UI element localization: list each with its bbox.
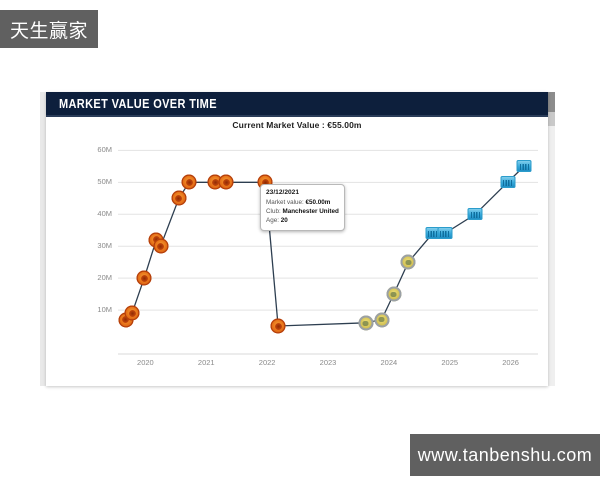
x-tick-label: 2026 — [488, 358, 534, 367]
club-badge-icon — [153, 239, 168, 254]
data-point[interactable] — [137, 271, 152, 286]
card-header-title: MARKET VALUE OVER TIME — [59, 97, 217, 111]
chart-svg — [46, 136, 548, 386]
club-badge-icon — [401, 255, 416, 270]
x-tick-label: 2022 — [244, 358, 290, 367]
card-scrollbar[interactable] — [548, 92, 555, 386]
y-tick-label: 30M — [78, 241, 112, 250]
watermark-bottom-right: www.tanbenshu.com — [410, 434, 600, 476]
data-point[interactable] — [517, 160, 532, 172]
x-tick-label: 2024 — [366, 358, 412, 367]
club-badge-icon — [182, 175, 197, 190]
data-point[interactable] — [182, 175, 197, 190]
x-tick-label: 2025 — [427, 358, 473, 367]
y-tick-label: 40M — [78, 209, 112, 218]
club-badge-icon — [500, 176, 515, 188]
data-point[interactable] — [468, 208, 483, 220]
screenshot-root: 天生赢家 MARKET VALUE OVER TIME Current Mark… — [0, 0, 600, 480]
club-badge-icon — [358, 315, 373, 330]
market-value-card: MARKET VALUE OVER TIME Current Market Va… — [46, 92, 548, 386]
y-tick-label: 50M — [78, 177, 112, 186]
data-point[interactable] — [401, 255, 416, 270]
club-badge-icon — [468, 208, 483, 220]
tooltip-market-value-label: Market value: — [266, 199, 304, 206]
tooltip-date: 23/12/2021 — [266, 189, 339, 196]
x-tick-label: 2020 — [122, 358, 168, 367]
data-point[interactable] — [153, 239, 168, 254]
club-badge-icon — [374, 312, 389, 327]
club-badge-icon — [219, 175, 234, 190]
club-badge-icon — [125, 306, 140, 321]
tooltip-age-label: Age: — [266, 217, 279, 224]
data-point[interactable] — [386, 287, 401, 302]
club-badge-icon — [171, 191, 186, 206]
tooltip-club: Club: Manchester United — [266, 207, 339, 216]
data-point[interactable] — [125, 306, 140, 321]
tooltip-age: Age: 20 — [266, 216, 339, 225]
tooltip-club-value: Manchester United — [282, 208, 338, 215]
chart-plot-area: 60M50M40M30M20M10M 202020212022202320242… — [46, 136, 548, 386]
chart-title: Current Market Value : €55.00m — [46, 120, 548, 130]
tooltip-market-value: Market value: €50.00m — [266, 198, 339, 207]
y-tick-label: 20M — [78, 273, 112, 282]
club-badge-icon — [271, 319, 286, 334]
data-point[interactable] — [171, 191, 186, 206]
data-point[interactable] — [271, 319, 286, 334]
watermark-top-left: 天生赢家 — [0, 10, 98, 48]
data-point[interactable] — [358, 315, 373, 330]
club-badge-icon — [437, 227, 452, 239]
chart-tooltip: 23/12/2021 Market value: €50.00m Club: M… — [260, 184, 345, 231]
club-badge-icon — [137, 271, 152, 286]
card-header: MARKET VALUE OVER TIME — [46, 92, 548, 117]
y-tick-label: 60M — [78, 145, 112, 154]
tooltip-market-value-value: €50.00m — [306, 199, 331, 206]
y-tick-label: 10M — [78, 305, 112, 314]
data-point[interactable] — [500, 176, 515, 188]
tooltip-age-value: 20 — [281, 217, 288, 224]
club-badge-icon — [386, 287, 401, 302]
data-point[interactable] — [374, 312, 389, 327]
tooltip-club-label: Club: — [266, 208, 281, 215]
data-point[interactable] — [437, 227, 452, 239]
club-badge-icon — [517, 160, 532, 172]
data-point[interactable] — [219, 175, 234, 190]
x-tick-label: 2023 — [305, 358, 351, 367]
x-tick-label: 2021 — [183, 358, 229, 367]
